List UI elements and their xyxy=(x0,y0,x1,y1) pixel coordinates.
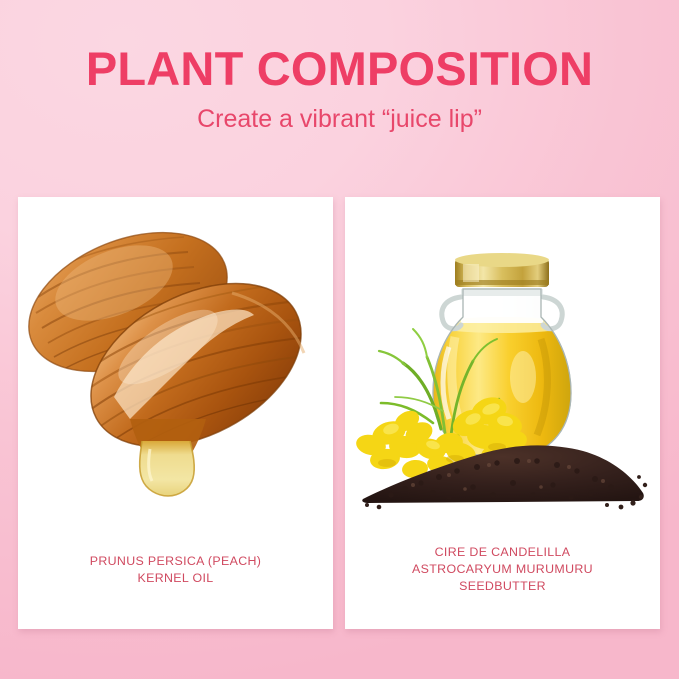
plant-composition-poster: PLANT COMPOSITION Create a vibrant “juic… xyxy=(0,0,679,679)
oil-jar-with-flowers-and-seeds-image xyxy=(345,197,660,542)
page-title: PLANT COMPOSITION xyxy=(0,44,679,94)
card-caption-almond: PRUNUS PERSICA (PEACH) KERNEL OIL xyxy=(26,553,325,587)
ingredient-card-candelilla: CIRE DE CANDELILLA ASTROCARYUM MURUMURU … xyxy=(345,197,660,629)
almonds-with-oil-drip-image xyxy=(18,197,333,542)
jar-lid-shape xyxy=(455,253,549,287)
page-subtitle: Create a vibrant “juice lip” xyxy=(0,105,679,134)
poster-header: PLANT COMPOSITION Create a vibrant “juic… xyxy=(0,44,679,134)
card-caption-candelilla: CIRE DE CANDELILLA ASTROCARYUM MURUMURU … xyxy=(353,544,652,595)
ingredient-card-almond: PRUNUS PERSICA (PEACH) KERNEL OIL xyxy=(18,197,333,629)
ingredient-card-list: PRUNUS PERSICA (PEACH) KERNEL OIL xyxy=(18,197,661,629)
